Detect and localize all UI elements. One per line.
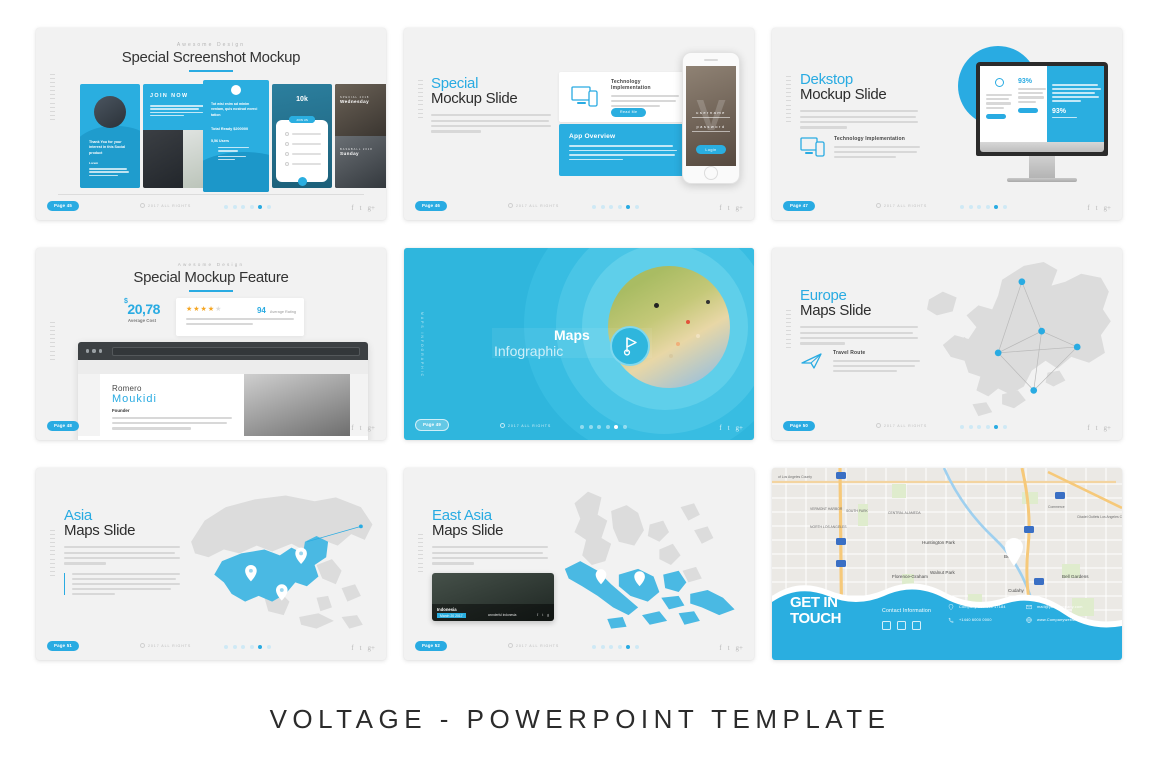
pagination-dots[interactable]	[224, 205, 271, 209]
slide-body-text	[800, 110, 918, 128]
slide-special-mockup-slide[interactable]: Special Mockup Slide Technology Implemen…	[404, 28, 754, 220]
contact-column-left: Company address 17184 +1440 6000 0000	[948, 604, 1006, 630]
review-text	[186, 318, 294, 325]
mockup-card-1: Thank You for your interest in this Soci…	[80, 84, 140, 188]
social-icons[interactable]: f t g+	[351, 204, 375, 212]
pagination-dots[interactable]	[580, 425, 627, 429]
mockup-card-1-sub: Lorem	[89, 161, 131, 165]
rating-card: ★★★★★ 94 Average Rating	[176, 298, 304, 336]
slide-title-line1: Maps	[554, 327, 590, 343]
profile-panel: Romero Moukidi Founder	[100, 374, 244, 440]
copyright-icon	[876, 203, 881, 208]
page-badge[interactable]: Page 51	[47, 641, 79, 651]
browser-mockup: Romero Moukidi Founder	[78, 342, 368, 440]
map-label: NORTH LOS ANGELES	[810, 525, 847, 529]
screen-pct-2: 93%	[1052, 108, 1101, 115]
side-rail	[49, 322, 56, 359]
browser-toolbar	[78, 342, 368, 360]
footer-copyright: 2017 ALL RIGHTS	[508, 203, 559, 208]
googleplus-icon[interactable]: g+	[368, 204, 375, 212]
facebook-icon[interactable]: f	[1087, 424, 1089, 432]
facebook-icon[interactable]: f	[351, 424, 353, 432]
person-last-name: Moukidi	[112, 393, 232, 405]
contact-email: mail@yourcompany.com	[1037, 605, 1083, 609]
person-role: Founder	[112, 408, 232, 413]
side-rail	[785, 310, 792, 347]
photo-caption-tag: wonderful indonesia	[488, 613, 516, 617]
slide-heading-block: East Asia Maps Slide	[432, 508, 548, 565]
twitter-icon[interactable]: t	[728, 204, 730, 212]
slide-title-line2: Infographic	[494, 343, 563, 359]
price-value: 20,78	[127, 301, 160, 317]
person-photo	[244, 374, 350, 436]
contact-website: www.Companywebsite.com	[1037, 618, 1088, 622]
mockup-card-5-small-1: SPECIAL 2018	[340, 96, 369, 99]
slide-heading-block: Special Mockup Slide	[431, 76, 551, 133]
address-bar[interactable]	[112, 347, 360, 356]
slide-special-screenshot-mockup[interactable]: Awesome Design Special Screenshot Mockup…	[36, 28, 386, 220]
mockup-card-2-heading: JOIN NOW	[150, 93, 188, 99]
mockup-card-5-line-2: Sunday	[340, 151, 359, 156]
page-badge[interactable]: Page 45	[47, 201, 79, 211]
title-underline	[189, 290, 233, 292]
twitter-icon[interactable]: t	[360, 424, 362, 432]
slide-eyebrow: Awesome Design	[36, 42, 386, 48]
social-icons[interactable]: f t g+	[351, 424, 375, 432]
map-label: VERMONT HARBOR	[810, 507, 843, 511]
slide-title-accent: Asia	[64, 508, 180, 523]
mockup-card-3-stat: Total Ready $200000	[211, 127, 261, 131]
password-field[interactable]: password	[692, 124, 730, 132]
contact-phone: +1440 6000 0000	[959, 618, 992, 622]
facebook-icon[interactable]: f	[351, 204, 353, 212]
slide-grid: Awesome Design Special Screenshot Mockup…	[36, 28, 1130, 660]
screen-blue-title	[1052, 74, 1101, 79]
pagination-dots[interactable]	[592, 645, 639, 649]
social-icons[interactable]: f t g+	[351, 644, 375, 652]
twitter-icon[interactable]: t	[360, 204, 362, 212]
page-title: VOLTAGE - POWERPOINT TEMPLATE	[0, 704, 1160, 735]
copyright-icon	[508, 203, 513, 208]
person-first-name: Romero	[112, 384, 232, 393]
east-asia-map-svg	[534, 482, 750, 646]
page-badge[interactable]: Page 50	[783, 421, 815, 431]
phone-mockup: V username password Login	[682, 52, 740, 184]
footer-copyright: 2017 ALL RIGHTS	[140, 203, 191, 208]
slide-title-accent: Europe	[800, 288, 918, 303]
devices-icon	[571, 86, 599, 108]
twitter-icon[interactable]: t	[728, 644, 730, 652]
technology-implementation-card: Technology Implementation Read Me	[559, 72, 687, 122]
googleplus-icon[interactable]: g+	[368, 644, 375, 652]
footer-copyright: 2017 ALL RIGHTS	[140, 643, 191, 648]
slide-special-mockup-feature[interactable]: Awesome Design Special Mockup Feature $2…	[36, 248, 386, 440]
photo-caption-date: March 20 2017	[437, 613, 466, 618]
footer-copyright: 2017 ALL RIGHTS	[500, 423, 551, 428]
feature-title: Technology Implementation	[834, 136, 920, 142]
slide-eyebrow: Awesome Design	[36, 262, 386, 267]
person-body-text	[112, 417, 232, 430]
app-overview-card: App Overview	[559, 124, 687, 176]
twitter-icon[interactable]	[897, 621, 906, 630]
page-badge[interactable]: Page 52	[415, 641, 447, 651]
mockup-card-4: 10k JOIN US	[272, 84, 332, 188]
contact-address: Company address 17184	[959, 605, 1006, 609]
side-rail	[417, 534, 424, 571]
page-badge[interactable]: Page 46	[415, 201, 447, 211]
facebook-icon[interactable]: f	[1087, 204, 1089, 212]
social-icons[interactable]: f t g+	[719, 424, 743, 432]
slide-heading-block: Dekstop Mockup Slide	[800, 72, 918, 129]
title-underline	[189, 70, 233, 72]
rating-label: Average Rating	[270, 310, 296, 314]
side-rail-text: MAPS INFOGRAPHIC	[420, 312, 424, 378]
phone-icon	[948, 617, 954, 623]
slide-title-dark: Maps Slide	[800, 303, 918, 319]
mockup-card-5: SPECIAL 2018 Wednesday BASEBALL 2018 Sun…	[335, 84, 386, 188]
footer-copyright: 2017 ALL RIGHTS	[508, 643, 559, 648]
airplane-icon	[800, 350, 824, 372]
mockup-card-4-button[interactable]: JOIN US	[289, 116, 315, 123]
slide-heading-block: Europe Maps Slide	[800, 288, 918, 345]
social-icons[interactable]: f t g+	[1087, 204, 1111, 212]
side-rail	[785, 76, 792, 122]
social-icons[interactable]: f t g+	[719, 204, 743, 212]
screenshot-stage: Thank You for your interest in this Soci…	[58, 80, 372, 192]
side-rail	[49, 74, 56, 120]
copyright-icon	[140, 643, 145, 648]
googleplus-icon[interactable]: g+	[1104, 204, 1111, 212]
location-icon	[948, 604, 954, 610]
get-in-touch-title: GET IN TOUCH	[790, 595, 841, 626]
window-dot-yellow[interactable]	[92, 349, 95, 352]
slide-maps-infographic[interactable]: MAPS INFOGRAPHIC Maps Infographic Page 4…	[404, 248, 754, 440]
side-rail	[49, 530, 56, 576]
slide-asia-maps-slide[interactable]: Asia Maps Slide	[36, 468, 386, 660]
tech-card-title: Technology Implementation	[611, 79, 679, 91]
slide-dekstop-mockup-slide[interactable]: Dekstop Mockup Slide Technology Implemen…	[772, 28, 1122, 220]
facebook-icon[interactable]	[882, 621, 891, 630]
map-label: of Los Angeles County	[778, 475, 812, 479]
slide-title-dark: Maps Slide	[432, 523, 548, 539]
east-asia-map	[534, 482, 750, 646]
map-label: Commerce	[1048, 505, 1065, 509]
side-rail	[417, 80, 424, 117]
slide-europe-maps-slide[interactable]: Europe Maps Slide Travel Route	[772, 248, 1122, 440]
twitter-icon[interactable]: t	[1096, 424, 1098, 432]
pagination-dots[interactable]	[592, 205, 639, 209]
photo-caption-title: Indonesia	[437, 607, 457, 612]
desktop-monitor-mockup: 93% 93%	[976, 62, 1108, 182]
copyright-icon	[140, 203, 145, 208]
slide-title-dark: Mockup Slide	[800, 87, 918, 103]
mockup-card-4-badge: 10k	[272, 96, 332, 103]
twitter-icon[interactable]: t	[728, 424, 730, 432]
slide-title-dark: Mockup Slide	[431, 91, 551, 107]
play-location-icon[interactable]	[610, 326, 650, 366]
facebook-icon[interactable]: f	[719, 644, 721, 652]
slide-title: Special Screenshot Mockup	[36, 49, 386, 66]
twitter-icon[interactable]: t	[1096, 204, 1098, 212]
mockup-card-3-heading: Tot wisi enim ad minim veniam, quis nost…	[211, 102, 261, 118]
contact-information-label: Contact Information	[882, 608, 931, 614]
mockup-card-3-sub: 5,56 Users	[211, 139, 261, 143]
pagination-dots[interactable]	[960, 205, 1007, 209]
mockup-card-5-line-1: Wednesday	[340, 99, 369, 104]
googleplus-icon[interactable]: g+	[736, 204, 743, 212]
instagram-icon[interactable]	[912, 621, 921, 630]
mockup-card-1-heading: Thank You for your interest in this Soci…	[89, 140, 131, 156]
footer-copyright: 2017 ALL RIGHTS	[876, 423, 927, 428]
googleplus-icon[interactable]: g+	[736, 424, 743, 432]
copyright-icon	[876, 423, 881, 428]
twitter-icon[interactable]: t	[360, 644, 362, 652]
footer-copyright: 2017 ALL RIGHTS	[876, 203, 927, 208]
slide-body-text	[431, 114, 551, 132]
mockup-card-5-small-2: BASEBALL 2018	[340, 148, 373, 151]
read-me-button[interactable]: Read Me	[611, 108, 646, 117]
googleplus-icon[interactable]: g+	[368, 424, 375, 432]
page-badge[interactable]: Page 49	[415, 419, 449, 431]
social-icons[interactable]: f t g+	[1087, 424, 1111, 432]
copyright-icon	[508, 643, 513, 648]
slide-title: Special Mockup Feature	[36, 269, 386, 286]
average-cost-stat: $20,78 Average Cost	[124, 301, 160, 323]
stage-ruler	[58, 194, 364, 198]
page-badge[interactable]: Page 48	[47, 421, 79, 431]
username-field[interactable]: username	[692, 110, 730, 118]
map-location-pin[interactable]	[1003, 537, 1025, 567]
contact-column-right: mail@yourcompany.com www.Companywebsite.…	[1026, 604, 1088, 630]
slide-quote	[64, 573, 180, 596]
facebook-icon[interactable]: f	[719, 204, 721, 212]
pagination-dots[interactable]	[224, 645, 271, 649]
title-line-2: TOUCH	[790, 611, 841, 626]
devices-icon	[800, 136, 826, 158]
copyright-icon	[500, 423, 505, 428]
asia-map	[168, 482, 384, 646]
window-dot-green[interactable]	[99, 349, 102, 352]
slide-heading-block: Asia Maps Slide	[64, 508, 180, 595]
pagination-dots[interactable]	[960, 425, 1007, 429]
mockup-card-3: Tot wisi enim ad minim veniam, quis nost…	[203, 80, 269, 192]
price-currency: $	[124, 298, 127, 305]
europe-map	[906, 258, 1116, 426]
page-badge[interactable]: Page 47	[783, 201, 815, 211]
social-icons[interactable]: f t g+	[719, 644, 743, 652]
slide-body-text	[64, 546, 180, 564]
slide-get-in-touch[interactable]: of Los Angeles County VERMONT HARBOR SOU…	[772, 468, 1122, 660]
login-button[interactable]: Login	[696, 145, 726, 154]
screen-pct-1: 93%	[1018, 78, 1046, 85]
googleplus-icon[interactable]: g+	[1104, 424, 1111, 432]
email-icon	[1026, 604, 1032, 610]
slide-title-dark: Maps Slide	[64, 523, 180, 539]
slide-title-accent: East Asia	[432, 508, 548, 523]
slide-title-accent: Special	[431, 76, 551, 91]
globe-icon	[1026, 617, 1032, 623]
app-overview-title: App Overview	[569, 133, 677, 140]
rating-value: 94	[257, 306, 266, 315]
slide-title-accent: Dekstop	[800, 72, 918, 87]
technology-implementation-feature: Technology Implementation	[800, 136, 920, 158]
title-line-1: GET IN	[790, 595, 841, 610]
map-label: SOUTH PARK	[846, 509, 869, 513]
window-dot-red[interactable]	[86, 349, 89, 352]
map-label: Huntington Park	[922, 540, 956, 545]
asia-map-svg	[168, 482, 384, 646]
slide-body-text	[800, 326, 918, 344]
facebook-icon[interactable]: f	[351, 644, 353, 652]
map-label: Citadel Outlets Los Angeles Commerce	[1077, 515, 1122, 519]
europe-map-svg	[906, 258, 1116, 426]
slide-body-text	[432, 546, 548, 564]
price-label: Average Cost	[124, 318, 160, 323]
travel-route-feature: Travel Route	[800, 350, 920, 372]
facebook-icon[interactable]: f	[719, 424, 721, 432]
social-icon-group[interactable]	[882, 621, 921, 630]
googleplus-icon[interactable]: g+	[736, 644, 743, 652]
slide-east-asia-maps-slide[interactable]: East Asia Maps Slide Indonesia March 20 …	[404, 468, 754, 660]
map-label: CENTRAL ALAMEDA	[888, 511, 921, 515]
